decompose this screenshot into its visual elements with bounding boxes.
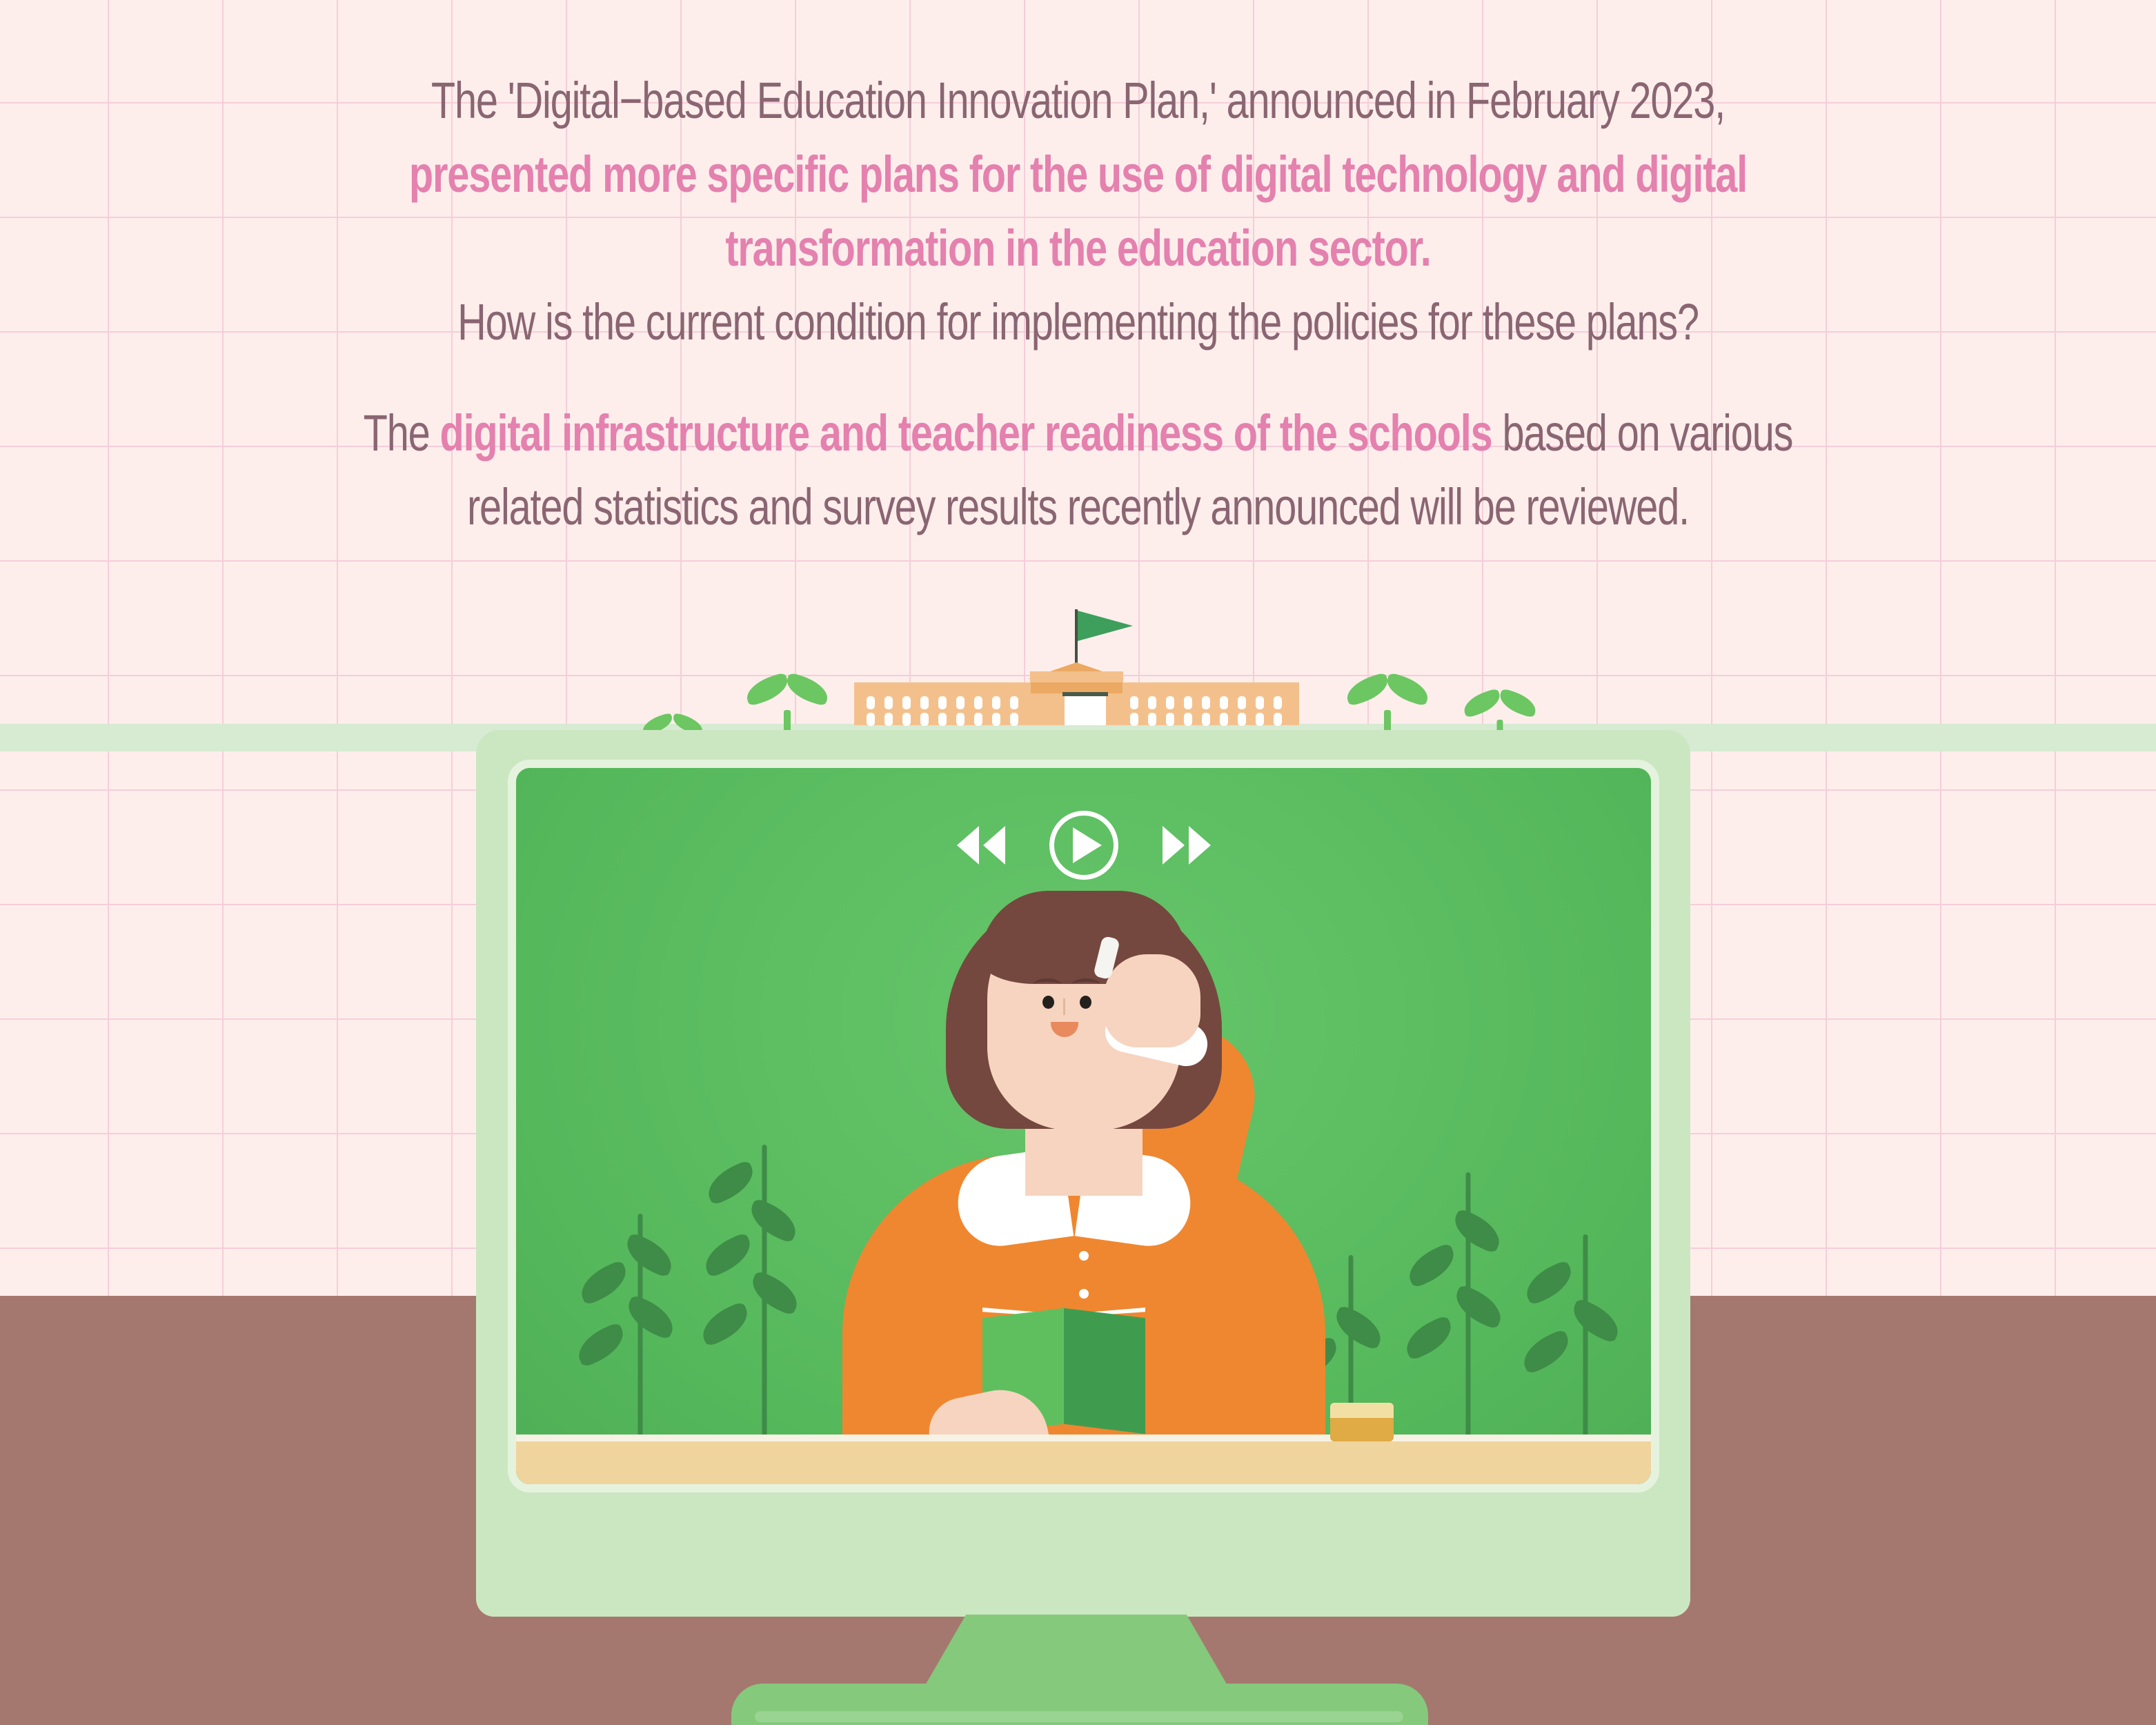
intro-line-1: The 'Digital−based Education Innovation … [431, 72, 1725, 129]
intro-paragraph-2: The digital infrastructure and teacher r… [237, 396, 1919, 544]
intro-paragraph-1: The 'Digital−based Education Innovation … [237, 63, 1919, 359]
infographic-page: The 'Digital−based Education Innovation … [0, 0, 2156, 1725]
intro-line-2-highlight: presented more specific plans for the us… [409, 146, 1747, 203]
intro-text-block: The 'Digital−based Education Innovation … [0, 63, 2156, 544]
intro-p2-tail: based on various [1492, 404, 1793, 462]
intro-p2-line-2: related statistics and survey results re… [467, 478, 1689, 535]
intro-line-4: How is the current condition for impleme… [457, 293, 1699, 351]
intro-line-3-highlight: transformation in the education sector. [725, 219, 1430, 277]
desk-surface [0, 1296, 2156, 1725]
intro-p2-highlight: digital infrastructure and teacher readi… [439, 404, 1492, 462]
intro-p2-lead: The [364, 404, 440, 462]
